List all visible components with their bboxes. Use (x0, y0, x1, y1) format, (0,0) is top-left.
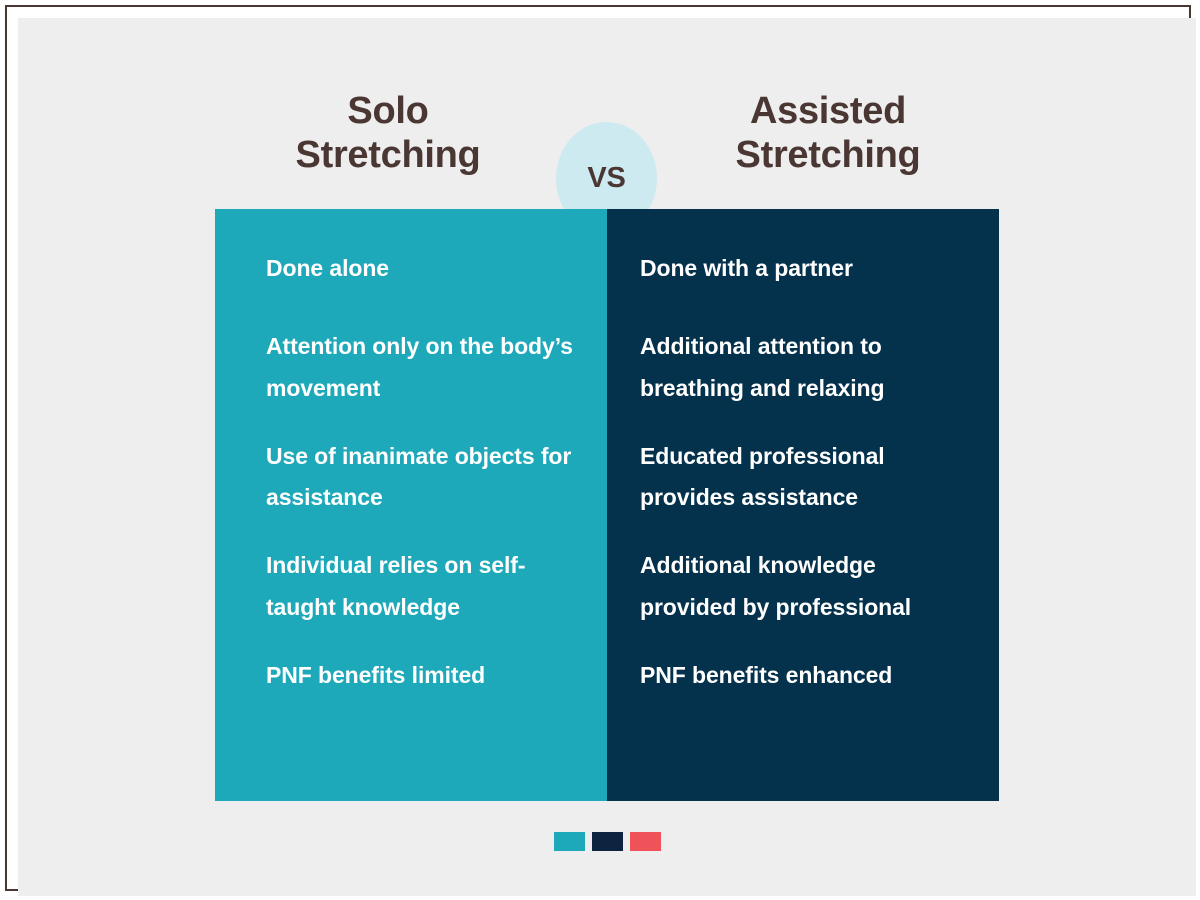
vs-badge-label: VS (587, 162, 625, 195)
comparison-panel: Done alone Attention only on the body’s … (215, 209, 999, 801)
infographic-canvas: SoloStretching VS AssistedStretching Don… (18, 18, 1196, 896)
list-item: Individual relies on self-taught knowled… (266, 545, 585, 629)
list-item: Additional knowledge provided by profess… (640, 545, 977, 629)
column-title-solo: SoloStretching (223, 68, 553, 198)
list-item: PNF benefits limited (266, 655, 585, 697)
list-item: Attention only on the body’s movement (266, 326, 585, 410)
teal-swatch (554, 832, 585, 851)
infographic-frame: SoloStretching VS AssistedStretching Don… (5, 5, 1191, 891)
list-item: Additional attention to breathing and re… (640, 326, 977, 410)
coral-swatch (630, 832, 661, 851)
brand-swatch-strip (18, 832, 1196, 851)
list-item: Done alone (266, 248, 585, 290)
list-item: Use of inanimate objects for assistance (266, 436, 585, 520)
comparison-header: SoloStretching VS AssistedStretching (18, 68, 1196, 198)
list-item: PNF benefits enhanced (640, 655, 977, 697)
comparison-column-solo: Done alone Attention only on the body’s … (215, 209, 607, 801)
comparison-column-assisted: Done with a partner Additional attention… (607, 209, 999, 801)
list-item: Educated professional provides assistanc… (640, 436, 977, 520)
list-item: Done with a partner (640, 248, 977, 290)
column-title-assisted: AssistedStretching (663, 68, 993, 198)
navy-swatch (592, 832, 623, 851)
